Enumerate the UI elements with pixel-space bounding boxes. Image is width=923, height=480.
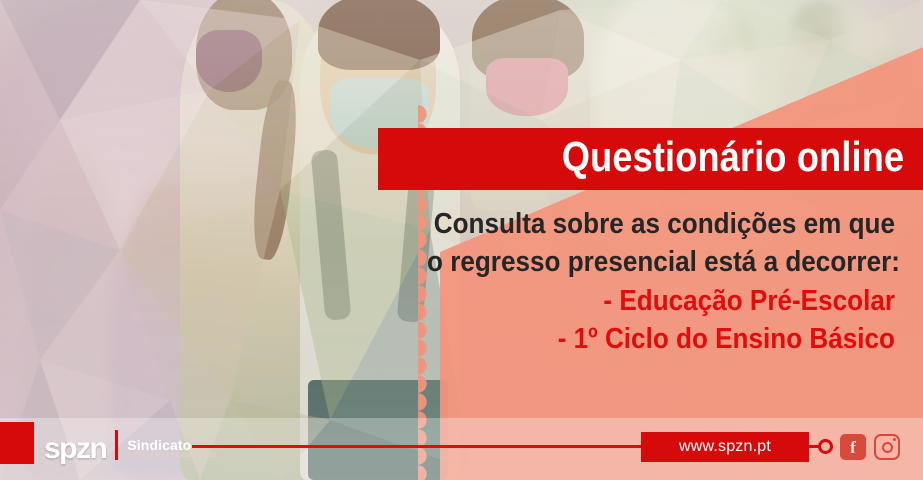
copy-line-4: - 1º Ciclo do Ensino Básico xyxy=(427,320,895,358)
url-connector-dot xyxy=(818,439,833,454)
website-url-text: www.spzn.pt xyxy=(679,438,771,456)
instagram-icon[interactable] xyxy=(874,434,900,460)
body-copy: Consulta sobre as condições em que o reg… xyxy=(375,205,895,358)
title-bar: Questionário online xyxy=(378,128,923,190)
facebook-glyph: f xyxy=(850,439,856,456)
facebook-icon[interactable]: f xyxy=(840,434,866,460)
page-title: Questionário online xyxy=(562,136,923,182)
logo-text-block: Sindicato PROFESSORES DA ZONA NORTE xyxy=(127,438,217,461)
logo-wordmark: spzn xyxy=(44,436,106,462)
logo-subtitle: PROFESSORES DA ZONA NORTE xyxy=(127,454,217,459)
copy-line-3: - Educação Pré-Escolar xyxy=(427,282,895,320)
promo-banner: Questionário online Consulta sobre as co… xyxy=(0,0,923,480)
spzn-logo[interactable]: spzn Sindicato PROFESSORES DA ZONA NORTE xyxy=(44,430,217,461)
social-links: f xyxy=(840,434,900,460)
logo-divider xyxy=(115,430,118,460)
footer-red-square xyxy=(0,422,34,464)
instagram-lens xyxy=(882,442,893,453)
website-url-box[interactable]: www.spzn.pt xyxy=(641,432,809,462)
copy-line-2: o regresso presencial está a decorrer: xyxy=(427,243,895,281)
footer-rule xyxy=(192,445,642,448)
copy-line-1: Consulta sobre as condições em que xyxy=(427,205,895,243)
